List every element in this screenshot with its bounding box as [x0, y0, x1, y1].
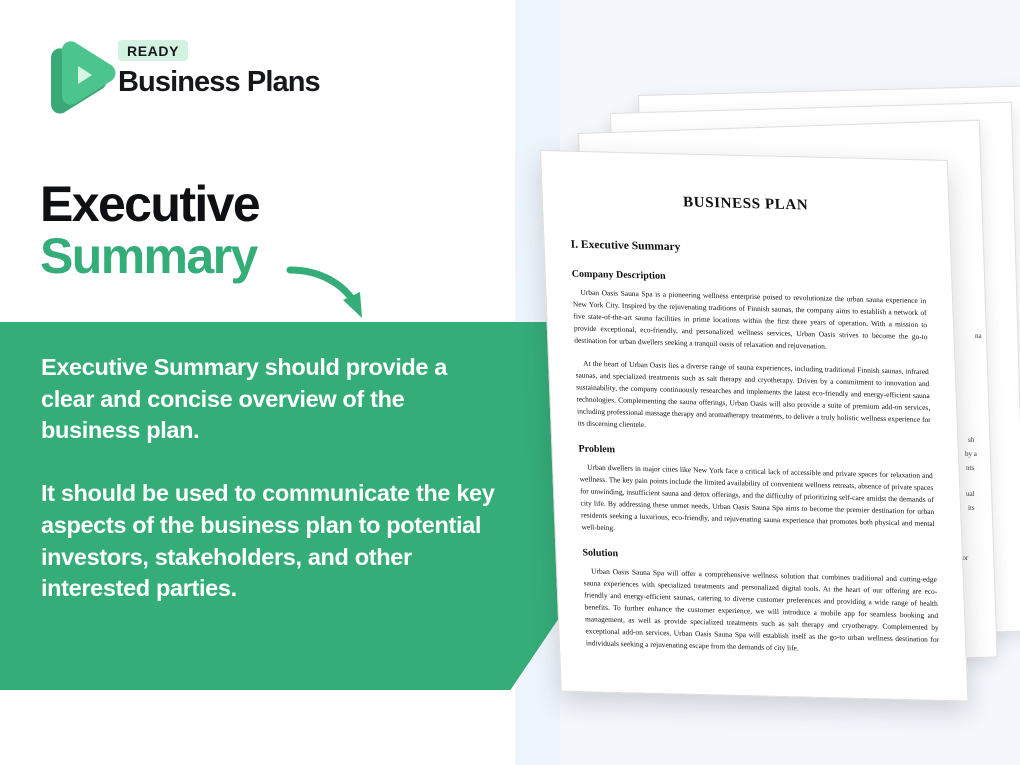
document-title: BUSINESS PLAN: [569, 192, 923, 218]
brand-name: Business Plans: [118, 67, 320, 97]
document-section-problem: Problem Urban dwellers in major cities l…: [578, 443, 935, 541]
peek-text: by a: [965, 449, 977, 460]
brand-logo: READY Business Plans: [40, 36, 340, 118]
page-title-line1: Executive: [40, 178, 259, 230]
document-paragraph: Urban Oasis Sauna Spa will offer a compr…: [583, 565, 940, 657]
peek-text: sh: [968, 435, 974, 446]
document-subheading: Solution: [582, 547, 936, 567]
ready-badge: READY: [118, 40, 188, 61]
document-section-company-description: Company Description Urban Oasis Sauna Sp…: [572, 269, 932, 438]
peek-text: ual: [966, 489, 975, 500]
curved-arrow-down-right-icon: [286, 262, 382, 324]
slide-canvas: READY Business Plans Executive Summary E…: [0, 0, 1020, 765]
document-paragraph: At the heart of Urban Oasis lies a diver…: [575, 357, 931, 437]
document-subheading: Problem: [578, 443, 932, 463]
panel-paragraph-2: It should be used to communicate the key…: [41, 478, 501, 605]
document-stack: na sauna ents and sh by a nts nish n by …: [520, 95, 1020, 670]
document-subheading: Company Description: [572, 269, 926, 289]
document-paragraph: Urban dwellers in major cities like New …: [579, 461, 935, 541]
document-paragraph: Urban Oasis Sauna Spa is a pioneering we…: [572, 287, 928, 356]
page-title: Executive Summary: [40, 178, 259, 282]
peek-text: nts: [966, 463, 974, 474]
document-page-content: BUSINESS PLAN I. Executive Summary Compa…: [541, 151, 966, 658]
document-page-front: BUSINESS PLAN I. Executive Summary Compa…: [540, 150, 968, 702]
document-section-heading: I. Executive Summary: [570, 239, 924, 260]
page-title-line2: Summary: [40, 230, 259, 282]
document-section-solution: Solution Urban Oasis Sauna Spa will offe…: [582, 547, 940, 657]
brand-logo-text: READY Business Plans: [118, 40, 320, 97]
peek-text: its: [968, 503, 975, 514]
play-button-logo-icon: [40, 38, 118, 116]
panel-paragraph-1: Executive Summary should provide a clear…: [41, 352, 501, 447]
panel-copy: Executive Summary should provide a clear…: [41, 352, 501, 605]
peek-text: na: [975, 331, 982, 342]
